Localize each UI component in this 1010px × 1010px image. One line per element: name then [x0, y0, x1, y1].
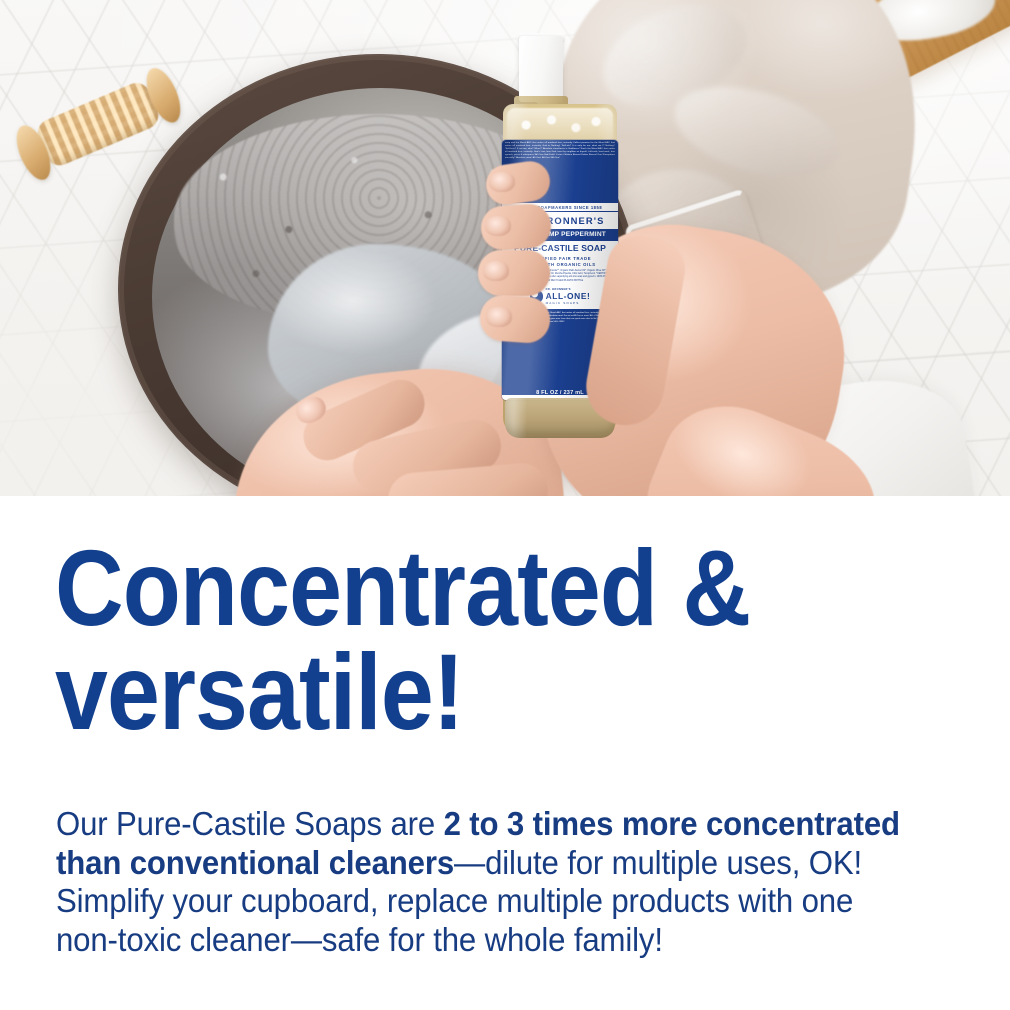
bottle-cap — [519, 36, 563, 102]
soap-foam-inside-bottle — [507, 108, 613, 142]
fingernail — [483, 261, 509, 281]
all-one-headline: ALL-ONE! — [546, 291, 591, 301]
fingernail — [486, 307, 512, 327]
fingernail — [485, 216, 511, 236]
product-feature-card: soap and the Moral ABC that unites all m… — [0, 0, 1010, 1010]
all-one-subline: MAGIC SOAPS — [546, 301, 591, 305]
fingernail — [489, 172, 515, 192]
page-headline: Concentrated & versatile! — [55, 536, 847, 744]
body-copy: Our Pure-Castile Soaps are 2 to 3 times … — [56, 806, 910, 960]
all-one-text: DR. BRONNER'S ALL-ONE! MAGIC SOAPS — [546, 288, 591, 305]
product-lifestyle-photo: soap and the Moral ABC that unites all m… — [0, 0, 1010, 496]
body-copy-text: Our Pure-Castile Soaps are — [56, 806, 444, 843]
